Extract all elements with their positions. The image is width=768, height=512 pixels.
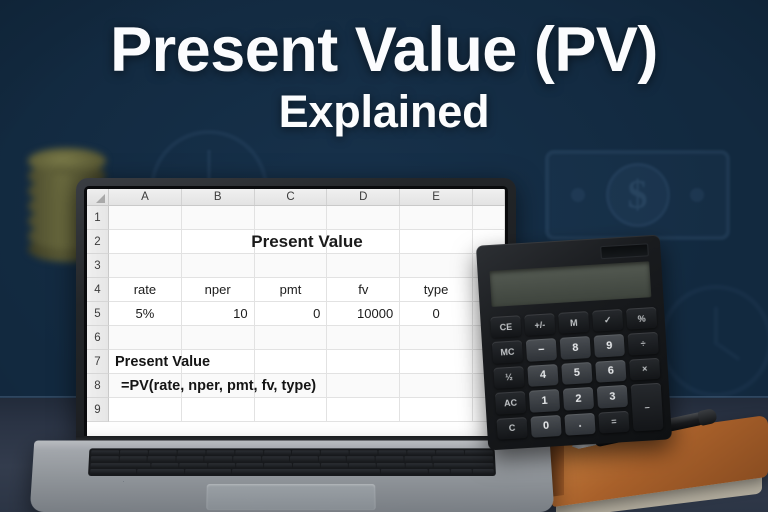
table-row[interactable]: 2 Present Value — [87, 230, 505, 254]
cell-a5-rate-value[interactable]: 5% — [109, 302, 182, 326]
laptop-lid: A B C D E 1 — [76, 178, 516, 446]
cell-a3[interactable] — [109, 254, 182, 278]
column-header-d[interactable]: D — [327, 189, 400, 205]
cell-d7[interactable] — [327, 350, 400, 374]
column-header-f[interactable] — [473, 189, 505, 205]
calc-key-0[interactable]: 0 — [530, 415, 561, 438]
table-row[interactable]: 9 — [87, 398, 505, 422]
spreadsheet[interactable]: A B C D E 1 — [87, 189, 505, 437]
cell-d3[interactable] — [327, 254, 400, 278]
laptop: A B C D E 1 — [32, 178, 552, 512]
calc-key-c[interactable]: C — [496, 417, 527, 440]
cell-b4-nper-label[interactable]: nper — [182, 278, 255, 302]
row-header-1[interactable]: 1 — [87, 206, 109, 230]
calc-key-3[interactable]: 3 — [597, 385, 628, 408]
calc-key-minus2[interactable]: − — [526, 338, 557, 361]
calc-key-9[interactable]: 9 — [594, 334, 625, 357]
cell-e7[interactable] — [400, 350, 473, 374]
row-header-7[interactable]: 7 — [87, 350, 109, 374]
cell-a7[interactable] — [109, 350, 182, 374]
calc-key-ac[interactable]: AC — [495, 391, 526, 414]
cell-b5-nper-value[interactable]: 10 — [182, 302, 255, 326]
scene: $ Present Value (PV) Explained A B — [0, 0, 768, 512]
select-all-corner[interactable] — [87, 189, 109, 205]
calculator-body: CE +/- M ✓ % MC − 8 9 ÷ ½ 4 5 6 × AC 1 2… — [476, 235, 672, 451]
calc-key-divide[interactable]: ÷ — [628, 332, 659, 355]
row-header-3[interactable]: 3 — [87, 254, 109, 278]
cell-b6[interactable] — [182, 326, 255, 350]
cell-a2[interactable] — [109, 230, 182, 254]
cell-d2[interactable] — [327, 230, 400, 254]
cell-e4-type-label[interactable]: type — [400, 278, 473, 302]
calculator-display — [489, 261, 651, 307]
calc-key-dot[interactable]: . — [564, 412, 595, 435]
dollar-sign: $ — [628, 171, 648, 218]
laptop-screen: A B C D E 1 — [87, 189, 505, 437]
row-header-2[interactable]: 2 — [87, 230, 109, 254]
cell-c8[interactable] — [255, 374, 328, 398]
row-header-4[interactable]: 4 — [87, 278, 109, 302]
cell-e8[interactable] — [400, 374, 473, 398]
row-header-5[interactable]: 5 — [87, 302, 109, 326]
calculator[interactable]: CE +/- M ✓ % MC − 8 9 ÷ ½ 4 5 6 × AC 1 2… — [476, 235, 672, 451]
cell-d8[interactable] — [327, 374, 400, 398]
calculator-keypad[interactable]: CE +/- M ✓ % MC − 8 9 ÷ ½ 4 5 6 × AC 1 2… — [490, 307, 663, 440]
column-header-a[interactable]: A — [109, 189, 182, 205]
cell-f1[interactable] — [473, 206, 505, 230]
cell-d9[interactable] — [327, 398, 400, 422]
cell-c1[interactable] — [255, 206, 328, 230]
calc-key-m[interactable]: M — [558, 311, 589, 334]
cell-d6[interactable] — [327, 326, 400, 350]
laptop-keyboard[interactable] — [88, 448, 496, 476]
calc-key-equals[interactable]: = — [598, 410, 629, 433]
bill-dot-right — [690, 188, 704, 202]
cell-b7[interactable] — [182, 350, 255, 374]
calc-key-4[interactable]: 4 — [527, 364, 558, 387]
cell-c4-pmt-label[interactable]: pmt — [255, 278, 328, 302]
calc-key-5[interactable]: 5 — [561, 362, 592, 385]
solar-panel — [600, 243, 649, 259]
laptop-bezel: A B C D E 1 — [84, 186, 508, 440]
row-header-6[interactable]: 6 — [87, 326, 109, 350]
cell-b1[interactable] — [182, 206, 255, 230]
column-header-c[interactable]: C — [255, 189, 328, 205]
bill-dot-left — [571, 188, 585, 202]
laptop-base — [30, 441, 555, 512]
cell-b9[interactable] — [182, 398, 255, 422]
column-header-b[interactable]: B — [182, 189, 255, 205]
cell-e2[interactable] — [400, 230, 473, 254]
cell-d5-fv-value[interactable]: 10000 — [327, 302, 400, 326]
table-row[interactable]: 4 rate nper pmt fv type — [87, 278, 505, 302]
table-row[interactable]: 5 5% 10 0 10000 0 — [87, 302, 505, 326]
calc-key-1[interactable]: 1 — [529, 389, 560, 412]
clock-icon-right — [660, 285, 768, 397]
cell-a8[interactable] — [109, 374, 182, 398]
cell-d1[interactable] — [327, 206, 400, 230]
cell-a1[interactable] — [109, 206, 182, 230]
calc-key-ce[interactable]: CE — [490, 315, 521, 338]
cell-b8[interactable] — [182, 374, 255, 398]
table-row[interactable]: 6 — [87, 326, 505, 350]
cell-e6[interactable] — [400, 326, 473, 350]
page-subtitle: Explained — [0, 86, 768, 138]
cell-d4-fv-label[interactable]: fv — [327, 278, 400, 302]
dollar-bill-icon: $ — [545, 150, 730, 240]
calc-key-percent[interactable]: % — [626, 307, 657, 330]
cell-c2[interactable] — [255, 230, 328, 254]
cell-c6[interactable] — [255, 326, 328, 350]
row-header-8[interactable]: 8 — [87, 374, 109, 398]
calc-key-half[interactable]: ½ — [493, 366, 524, 389]
cell-e9[interactable] — [400, 398, 473, 422]
pen-cap — [697, 408, 718, 426]
spreadsheet-rows: 1 — [87, 206, 505, 437]
cell-b3[interactable] — [182, 254, 255, 278]
calc-key-8[interactable]: 8 — [560, 336, 591, 359]
column-header-row: A B C D E — [87, 189, 505, 206]
cell-e3[interactable] — [400, 254, 473, 278]
page-title: Present Value (PV) — [0, 18, 768, 82]
cell-a6[interactable] — [109, 326, 182, 350]
cell-c9[interactable] — [255, 398, 328, 422]
calc-key-6[interactable]: 6 — [595, 360, 626, 383]
cell-a9[interactable] — [109, 398, 182, 422]
table-row[interactable]: 8 =PV(rate, nper, pmt, fv, type) — [87, 374, 505, 398]
laptop-trackpad[interactable] — [206, 484, 375, 510]
table-row[interactable]: 3 — [87, 254, 505, 278]
cell-c5-pmt-value[interactable]: 0 — [255, 302, 328, 326]
cell-e5-type-value[interactable]: 0 — [400, 302, 473, 326]
calc-key-2[interactable]: 2 — [563, 387, 594, 410]
table-row[interactable]: 7 Present Value — [87, 350, 505, 374]
calc-key-sign[interactable]: +/- — [524, 313, 555, 336]
calc-key-mc[interactable]: MC — [492, 341, 523, 364]
row-header-9[interactable]: 9 — [87, 398, 109, 422]
cell-e1[interactable] — [400, 206, 473, 230]
table-row[interactable]: 1 — [87, 206, 505, 230]
calc-key-check[interactable]: ✓ — [592, 309, 623, 332]
column-header-e[interactable]: E — [400, 189, 473, 205]
cell-c3[interactable] — [255, 254, 328, 278]
cell-c7[interactable] — [255, 350, 328, 374]
cell-b2[interactable] — [182, 230, 255, 254]
cell-a4-rate-label[interactable]: rate — [109, 278, 182, 302]
calc-key-minus[interactable]: − — [631, 383, 664, 432]
calc-key-multiply[interactable]: × — [629, 358, 660, 381]
title-block: Present Value (PV) Explained — [0, 18, 768, 138]
